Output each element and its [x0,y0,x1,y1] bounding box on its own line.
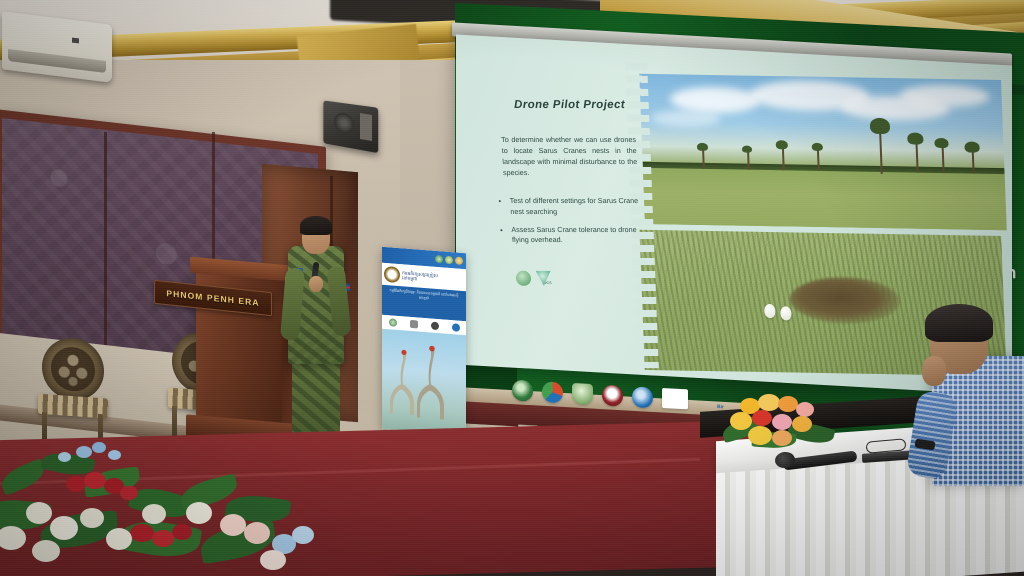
speaker-bracket [360,113,372,141]
partner-logo-icon [572,382,593,404]
banner-crane-photo [382,329,466,436]
banner-partner-logo-icon [410,320,418,329]
banner-khmer-heading: ការអភិរក្សសត្រក្រៀល នៅកម្ពុជា [402,270,438,284]
slide-bullet-list: Test of different settings for Sarus Cra… [501,196,653,253]
podium-shaft [216,297,282,431]
slide-paragraph: To determine whether we can use drones t… [501,134,638,179]
rollup-banner: ការអភិរក្សសត្រក្រៀល នៅកម្ពុជា កម្មវិធីអភ… [382,247,466,436]
banner-logo-icon [455,256,463,265]
crane-egg [780,306,792,320]
slide-logo-row: WCS [516,271,552,286]
air-conditioner-led [72,38,79,44]
partner-logo-icon [512,379,533,401]
sarus-crane-icon [416,343,450,426]
presentation-photo-scene: ub-Region [0,0,1024,576]
banner-partner-logo-icon [431,322,439,331]
audience-member-hand [922,356,946,386]
slide-bullet-item: Assess Sarus Crane tolerance to drone fl… [511,225,652,247]
presenter-hand [309,276,323,292]
slide-logo-circle-icon [516,271,532,286]
presenter-hair [300,216,332,235]
partner-logo-icon [542,381,563,403]
slide-photo-landscape [639,74,1006,231]
banner-logo-icon [435,255,443,264]
slide-bullet-item: Test of different settings for Sarus Cra… [510,196,651,218]
podium-nameplate-text: PHNOM PENH ERA [166,288,259,308]
partner-logo-icon [602,384,623,406]
partner-logo-icon [632,386,653,408]
slide-title: Drone Pilot Project [514,99,626,111]
flower-arrangement-front [0,430,340,576]
banner-logo-icon [445,256,453,265]
birdlife-logo-icon [662,388,688,409]
crane-egg [764,304,776,318]
banner-partner-logo-icon [389,318,397,327]
banner-seal-icon [384,266,400,283]
projection-screen[interactable]: Drone Pilot Project To determine whether… [456,34,1012,395]
audience-member-hair [925,304,993,342]
table-flower-arrangement [722,394,842,450]
banner-partner-logo-icon [452,323,460,332]
